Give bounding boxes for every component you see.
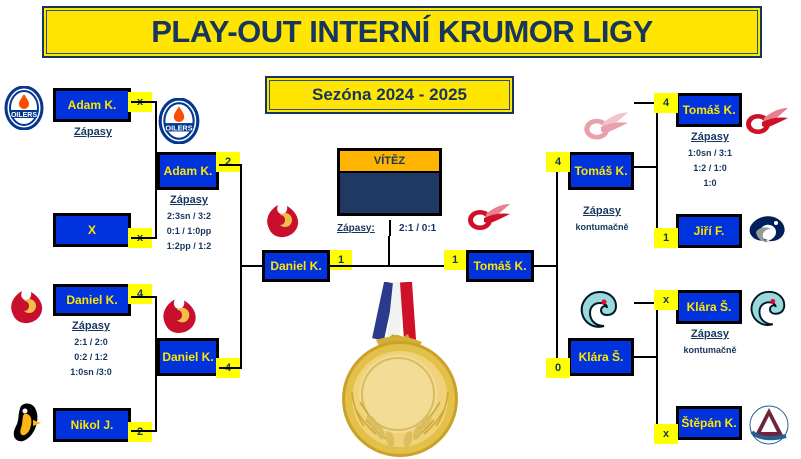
bracket-line bbox=[330, 265, 388, 267]
match-info-left-sf-1: Zápasy 2:3sn / 3:2 0:1 / 1:0pp 1:2pp / 1… bbox=[150, 194, 228, 254]
team-name: Štěpán K. bbox=[681, 416, 736, 430]
match-info-left-r1-2: Zápasy 2:1 / 2:0 0:2 / 1:2 1:0sn /3:0 bbox=[46, 320, 136, 380]
bracket-line bbox=[634, 166, 658, 168]
team-box-x-r1[interactable]: X bbox=[53, 213, 131, 247]
match-info-right-r1-2: Zápasy kontumačně bbox=[668, 328, 752, 358]
bracket-line bbox=[219, 367, 242, 369]
match-info-header: Zápasy bbox=[46, 320, 136, 332]
match-result: 0:1 / 1:0pp bbox=[150, 224, 228, 239]
match-info-right-sf-1: Zápasy kontumačně bbox=[562, 205, 642, 235]
score-badge-klara-s-sf: 0 bbox=[546, 358, 570, 378]
team-name: Daniel K. bbox=[270, 259, 321, 273]
penguins-logo bbox=[6, 398, 52, 444]
score-value: 2 bbox=[137, 426, 143, 438]
team-box-stepan-k-r1[interactable]: Štěpán K. bbox=[676, 406, 742, 440]
divider bbox=[389, 220, 391, 236]
match-result: 1:0sn /3:0 bbox=[46, 365, 136, 380]
svg-text:OILERS: OILERS bbox=[11, 112, 37, 119]
team-box-daniel-k-final[interactable]: Daniel K. bbox=[262, 250, 330, 282]
team-name: Klára Š. bbox=[579, 350, 624, 364]
kraken-logo bbox=[578, 288, 622, 332]
final-score-row: Zápasy: 2:1 / 0:1 bbox=[337, 220, 467, 236]
flames-logo bbox=[158, 290, 206, 336]
score-badge-daniel-k-final: 1 bbox=[330, 250, 352, 270]
page-title: PLAY-OUT INTERNÍ KRUMOR LIGY bbox=[151, 14, 653, 50]
match-result: 1:2 / 1:0 bbox=[668, 161, 752, 176]
bracket-line bbox=[219, 164, 242, 166]
bracket-line bbox=[131, 430, 157, 432]
winner-box: VÍTĚZ bbox=[337, 148, 442, 216]
match-result: 1:2pp / 1:2 bbox=[150, 239, 228, 254]
match-info-header: Zápasy bbox=[668, 131, 752, 143]
team-box-jiri-f-r1[interactable]: Jiří F. bbox=[676, 214, 742, 248]
score-value: 4 bbox=[663, 97, 669, 109]
team-name: Jiří F. bbox=[694, 224, 725, 238]
match-info-header: Zápasy bbox=[668, 328, 752, 340]
match-result: kontumačně bbox=[668, 343, 752, 358]
match-result: kontumačně bbox=[562, 220, 642, 235]
team-name: Adam K. bbox=[68, 98, 117, 112]
winner-name bbox=[340, 173, 439, 215]
team-box-nikol-j-r1[interactable]: Nikol J. bbox=[53, 408, 131, 442]
team-box-daniel-k-sf[interactable]: Daniel K. bbox=[157, 338, 219, 376]
season-banner: Sezóna 2024 - 2025 bbox=[265, 76, 514, 114]
score-badge-stepan-k-r1: x bbox=[654, 424, 678, 444]
flames-logo bbox=[262, 196, 308, 240]
gold-medal-icon bbox=[326, 282, 474, 459]
redwings-logo bbox=[460, 200, 512, 234]
team-name: Tomáš K. bbox=[682, 103, 735, 117]
svg-text:OILERS: OILERS bbox=[165, 123, 192, 132]
team-box-klara-s-r1[interactable]: Klára Š. bbox=[676, 290, 742, 324]
bracket-line bbox=[131, 101, 157, 103]
bracket-line bbox=[388, 265, 446, 267]
winner-caption: VÍTĚZ bbox=[340, 151, 439, 173]
team-name: Tomáš K. bbox=[574, 164, 627, 178]
match-result: 1:0sn / 3:1 bbox=[668, 146, 752, 161]
score-value: 1 bbox=[663, 232, 669, 244]
team-box-tomas-k-r1[interactable]: Tomáš K. bbox=[676, 93, 742, 127]
bracket-line bbox=[131, 296, 157, 298]
bracket-line bbox=[656, 102, 658, 240]
team-name: Nikol J. bbox=[71, 418, 114, 432]
match-result: 1:0 bbox=[668, 176, 752, 191]
team-name: Daniel K. bbox=[66, 293, 117, 307]
match-result: 2:3sn / 3:2 bbox=[150, 209, 228, 224]
team-name: Klára Š. bbox=[687, 300, 732, 314]
score-value: 4 bbox=[137, 288, 143, 300]
avalanche-logo bbox=[746, 404, 792, 446]
team-name: Daniel K. bbox=[162, 350, 213, 364]
score-badge-nikol-j-r1: 2 bbox=[128, 422, 152, 442]
score-badge-klara-s-r1: x bbox=[654, 290, 678, 310]
score-badge-daniel-k-r1: 4 bbox=[128, 284, 152, 304]
team-box-adam-k-sf[interactable]: Adam K. bbox=[157, 152, 219, 190]
season-label: Sezóna 2024 - 2025 bbox=[312, 85, 467, 105]
bracket-line bbox=[534, 265, 558, 267]
match-info-left-r1-1: Zápasy bbox=[53, 126, 133, 141]
team-box-tomas-k-final[interactable]: Tomáš K. bbox=[466, 250, 534, 282]
team-box-klara-s-sf[interactable]: Klára Š. bbox=[568, 338, 634, 376]
bracket-line bbox=[240, 265, 264, 267]
match-result: 2:1 / 2:0 bbox=[46, 335, 136, 350]
match-info-header: Zápasy bbox=[150, 194, 228, 206]
score-badge-tomas-k-r1: 4 bbox=[654, 93, 678, 113]
team-name: Adam K. bbox=[164, 164, 213, 178]
redwings-logo bbox=[576, 108, 630, 144]
score-badge-tomas-k-final: 1 bbox=[444, 250, 466, 270]
team-box-adam-k-r1[interactable]: Adam K. bbox=[53, 88, 131, 122]
score-value: 4 bbox=[555, 156, 561, 168]
match-info-header: Zápasy bbox=[53, 126, 133, 138]
score-badge-adam-k-sf: 2 bbox=[216, 152, 240, 172]
page-title-banner: PLAY-OUT INTERNÍ KRUMOR LIGY bbox=[42, 6, 762, 58]
final-score-label: Zápasy: bbox=[337, 223, 389, 234]
bracket-line bbox=[634, 356, 658, 358]
match-info-header: Zápasy bbox=[562, 205, 642, 217]
score-badge-tomas-k-sf: 4 bbox=[546, 152, 570, 172]
score-value: 0 bbox=[555, 362, 561, 374]
team-name: X bbox=[88, 223, 96, 237]
score-value: x bbox=[663, 294, 669, 306]
canucks-logo bbox=[746, 212, 790, 252]
match-info-right-r1-1: Zápasy 1:0sn / 3:1 1:2 / 1:0 1:0 bbox=[668, 131, 752, 191]
bracket-line bbox=[556, 166, 558, 370]
team-box-daniel-k-r1[interactable]: Daniel K. bbox=[53, 284, 131, 316]
score-value: 2 bbox=[225, 156, 231, 168]
final-score-value: 2:1 / 0:1 bbox=[399, 223, 436, 234]
bracket-line bbox=[388, 236, 390, 266]
score-value: x bbox=[663, 428, 669, 440]
team-name: Tomáš K. bbox=[473, 259, 526, 273]
oilers-logo: OILERS bbox=[4, 86, 44, 130]
oilers-logo: OILERS bbox=[158, 98, 200, 144]
bracket-line bbox=[656, 302, 658, 436]
team-box-tomas-k-sf[interactable]: Tomáš K. bbox=[568, 152, 634, 190]
kraken-logo bbox=[748, 288, 790, 330]
match-result: 0:2 / 1:2 bbox=[46, 350, 136, 365]
score-value: 1 bbox=[452, 254, 458, 266]
score-badge-jiri-f-r1: 1 bbox=[654, 228, 678, 248]
